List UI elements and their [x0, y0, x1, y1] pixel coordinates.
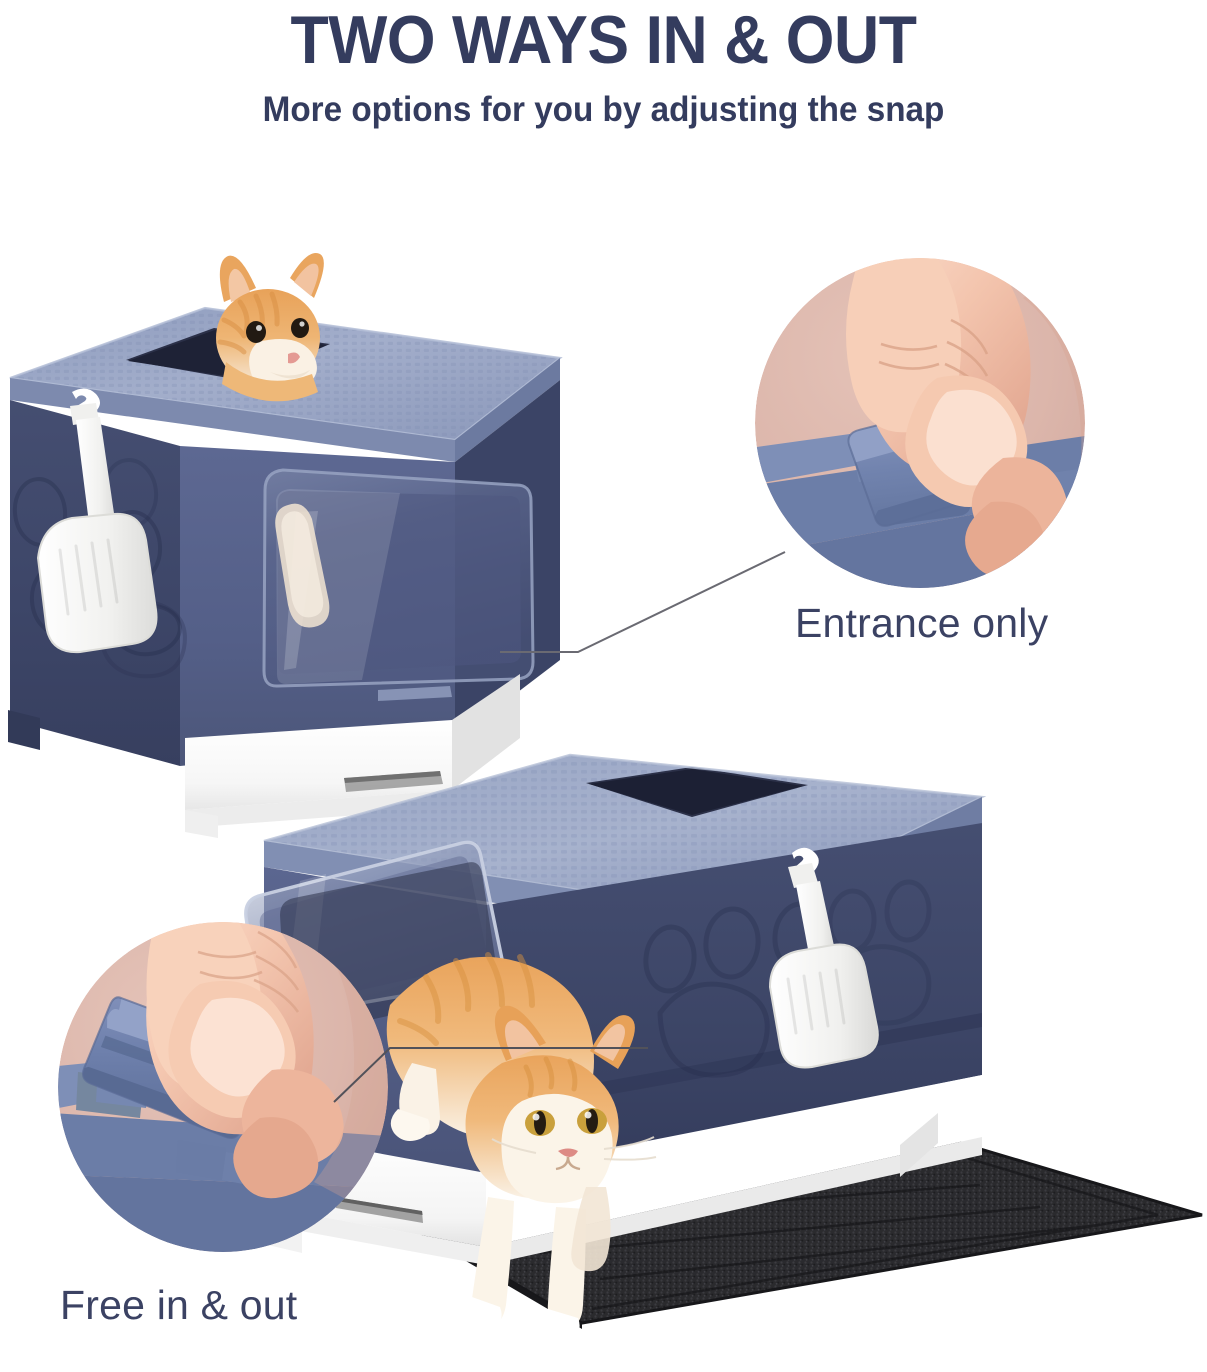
- caption-entrance-only: Entrance only: [795, 600, 1048, 647]
- header: TWO WAYS IN & OUT More options for you b…: [0, 0, 1207, 127]
- caption-free-in-out: Free in & out: [60, 1282, 297, 1329]
- page-title: TWO WAYS IN & OUT: [48, 0, 1158, 74]
- callout-entrance-only: [755, 258, 1085, 588]
- infographic-canvas: TWO WAYS IN & OUT More options for you b…: [0, 0, 1207, 1372]
- page-subtitle: More options for you by adjusting the sn…: [30, 74, 1177, 127]
- callout-free-in-out: [58, 922, 388, 1252]
